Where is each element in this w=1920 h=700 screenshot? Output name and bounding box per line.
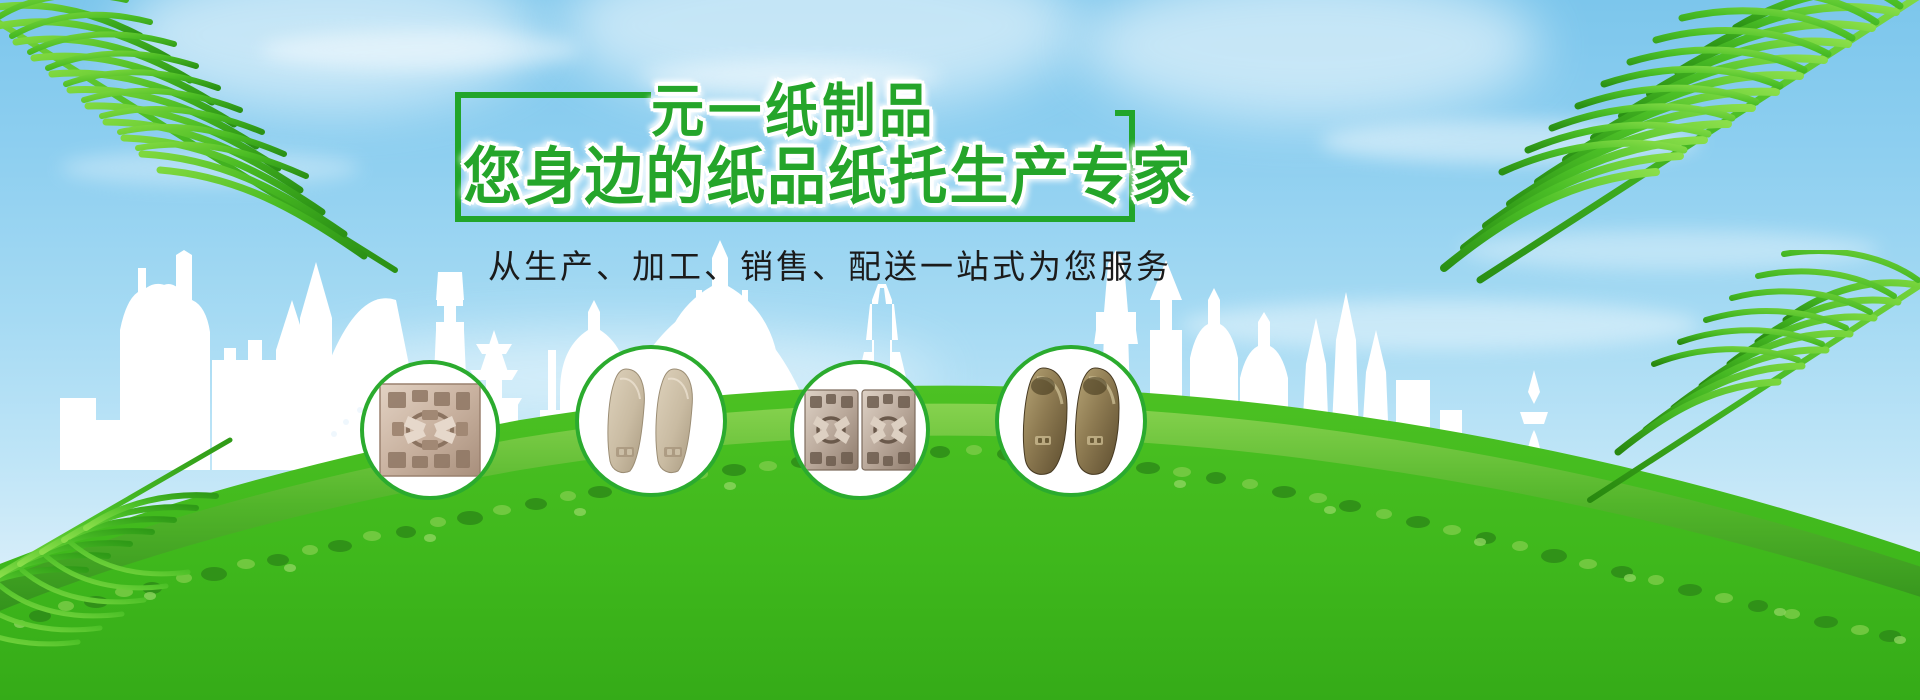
palm-frond-icon (0, 400, 260, 650)
product-circle-3[interactable]: 纸浆模塑托盘一对 (790, 360, 930, 500)
frame-bottom-border (455, 216, 1135, 222)
palm-frond-icon (1530, 250, 1920, 550)
product-circle-4[interactable]: 纸浆鞋楦成型件 (995, 345, 1147, 497)
paper-pulp-tray-square-image (378, 378, 482, 482)
headline-line-2: 您身边的纸品纸托生产专家 (463, 126, 1193, 216)
paper-pulp-shoe-shapers-image (1015, 362, 1127, 480)
frame-top-border (455, 92, 651, 98)
palm-frond-icon (0, 0, 410, 310)
headline-frame: 元一纸制品 您身边的纸品纸托生产专家 (455, 92, 1135, 222)
frame-left-border (455, 92, 461, 222)
product-circle-1[interactable]: 纸浆模塑方形托盘 (360, 360, 500, 500)
paper-pulp-shoe-inserts-image (596, 361, 706, 481)
promo-banner: 元一纸制品 您身边的纸品纸托生产专家 从生产、加工、销售、配送一站式为您服务 纸… (0, 0, 1920, 700)
frame-top-right-stub (1115, 110, 1135, 116)
banner-subtitle: 从生产、加工、销售、配送一站式为您服务 (488, 240, 1108, 288)
product-circle-2[interactable]: 纸浆鞋撑内托 (575, 345, 727, 497)
paper-pulp-tray-pair-image (804, 384, 916, 476)
